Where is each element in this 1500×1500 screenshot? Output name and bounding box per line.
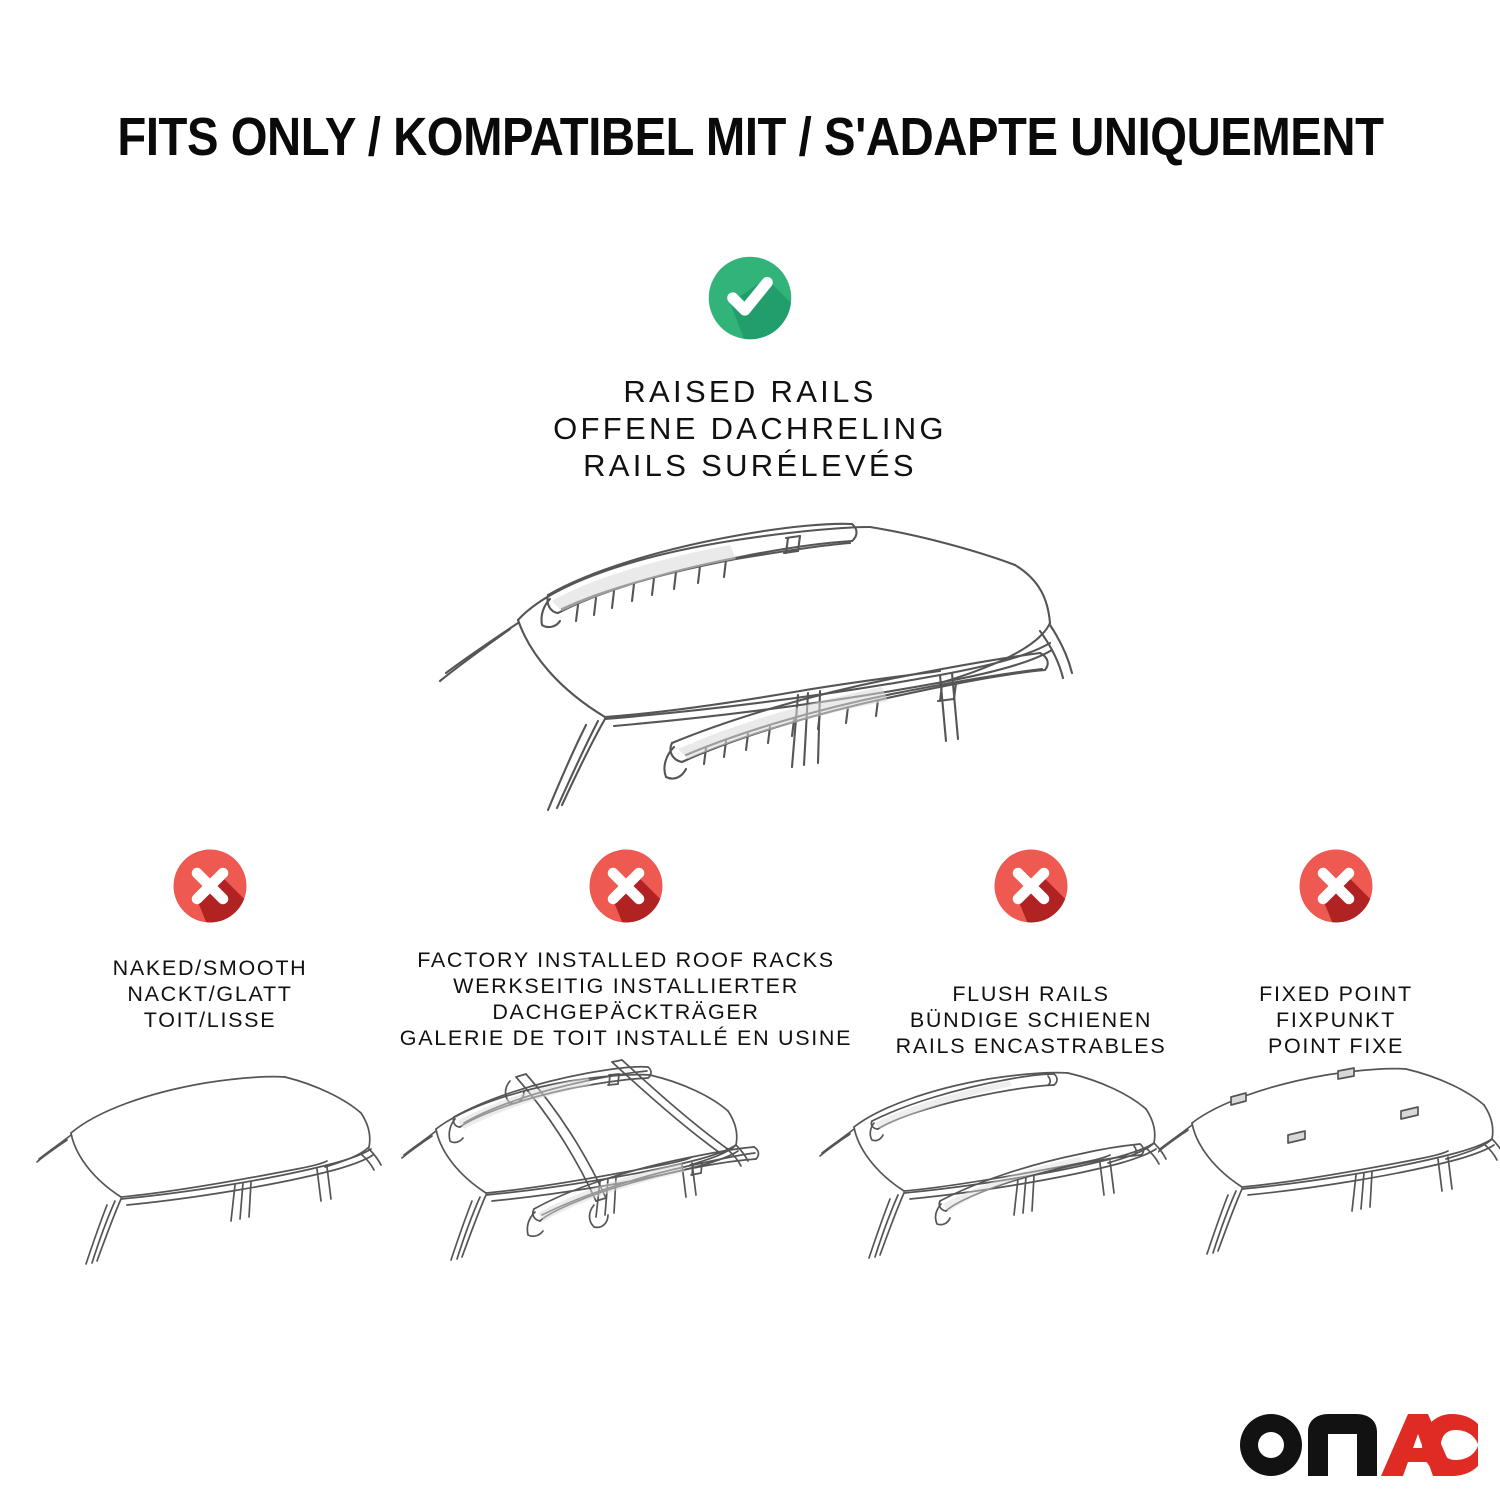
car-roof-raised-rails-diagram xyxy=(400,505,1100,825)
logo-letter-c xyxy=(1422,1414,1478,1476)
incompatible-column-fixed-point: FIXED POINT FIXPUNKT POINT FIXE xyxy=(1205,848,1467,1059)
red-x-icon xyxy=(1298,848,1374,924)
page-title: FITS ONLY / KOMPATIBEL MIT / S'ADAPTE UN… xyxy=(117,108,1383,166)
car-roof-flush-rails-diagram xyxy=(818,1055,1180,1285)
incompatible-sections: NAKED/SMOOTH NACKT/GLATT TOIT/LISSE FACT… xyxy=(0,848,1500,1088)
compatible-label-fr: RAILS SURÉLEVÉS xyxy=(0,447,1500,484)
incompatible-column-factory-roof-racks: FACTORY INSTALLED ROOF RACKS WERKSEITIG … xyxy=(395,848,857,1051)
incompatible-label-de: BÜNDIGE SCHIENEN xyxy=(870,1007,1192,1033)
red-x-icon xyxy=(993,848,1069,924)
car-roof-naked-smooth-diagram xyxy=(35,1055,395,1285)
incompatible-label-en: FACTORY INSTALLED ROOF RACKS xyxy=(395,947,857,973)
green-check-icon xyxy=(707,255,793,341)
compatible-section: RAISED RAILS OFFENE DACHRELING RAILS SUR… xyxy=(0,255,1500,484)
compatible-label-de: OFFENE DACHRELING xyxy=(0,410,1500,447)
incompatible-label-en: FLUSH RAILS xyxy=(870,981,1192,1007)
red-x-icon xyxy=(172,848,248,924)
compatible-label-en: RAISED RAILS xyxy=(0,373,1500,410)
logo-letter-o xyxy=(1240,1414,1302,1476)
page-title-bar: FITS ONLY / KOMPATIBEL MIT / S'ADAPTE UN… xyxy=(0,108,1500,166)
incompatible-label-de: FIXPUNKT xyxy=(1205,1007,1467,1033)
incompatible-label-de: NACKT/GLATT xyxy=(60,981,360,1007)
incompatible-label-de-1: WERKSEITIG INSTALLIERTER xyxy=(395,973,857,999)
incompatible-labels: FIXED POINT FIXPUNKT POINT FIXE xyxy=(1205,981,1467,1059)
car-roof-factory-roof-racks-diagram xyxy=(398,1055,780,1285)
incompatible-labels: FACTORY INSTALLED ROOF RACKS WERKSEITIG … xyxy=(395,947,857,1051)
car-roof-fixed-point-diagram xyxy=(1158,1055,1500,1285)
incompatible-label-en: NAKED/SMOOTH xyxy=(60,955,360,981)
incompatible-column-flush-rails: FLUSH RAILS BÜNDIGE SCHIENEN RAILS ENCAS… xyxy=(870,848,1192,1059)
incompatible-label-fr: TOIT/LISSE xyxy=(60,1007,360,1033)
logo-letter-m xyxy=(1308,1414,1377,1476)
incompatible-labels: FLUSH RAILS BÜNDIGE SCHIENEN RAILS ENCAS… xyxy=(870,981,1192,1059)
incompatible-label-de-2: DACHGEPÄCKTRÄGER xyxy=(395,999,857,1025)
incompatible-labels: NAKED/SMOOTH NACKT/GLATT TOIT/LISSE xyxy=(60,955,360,1033)
incompatible-column-naked-smooth: NAKED/SMOOTH NACKT/GLATT TOIT/LISSE xyxy=(60,848,360,1033)
incompatible-label-en: FIXED POINT xyxy=(1205,981,1467,1007)
compatible-labels: RAISED RAILS OFFENE DACHRELING RAILS SUR… xyxy=(0,373,1500,484)
omac-logo xyxy=(1238,1412,1478,1478)
red-x-icon xyxy=(588,848,664,924)
incompatible-label-fr: GALERIE DE TOIT INSTALLÉ EN USINE xyxy=(395,1025,857,1051)
